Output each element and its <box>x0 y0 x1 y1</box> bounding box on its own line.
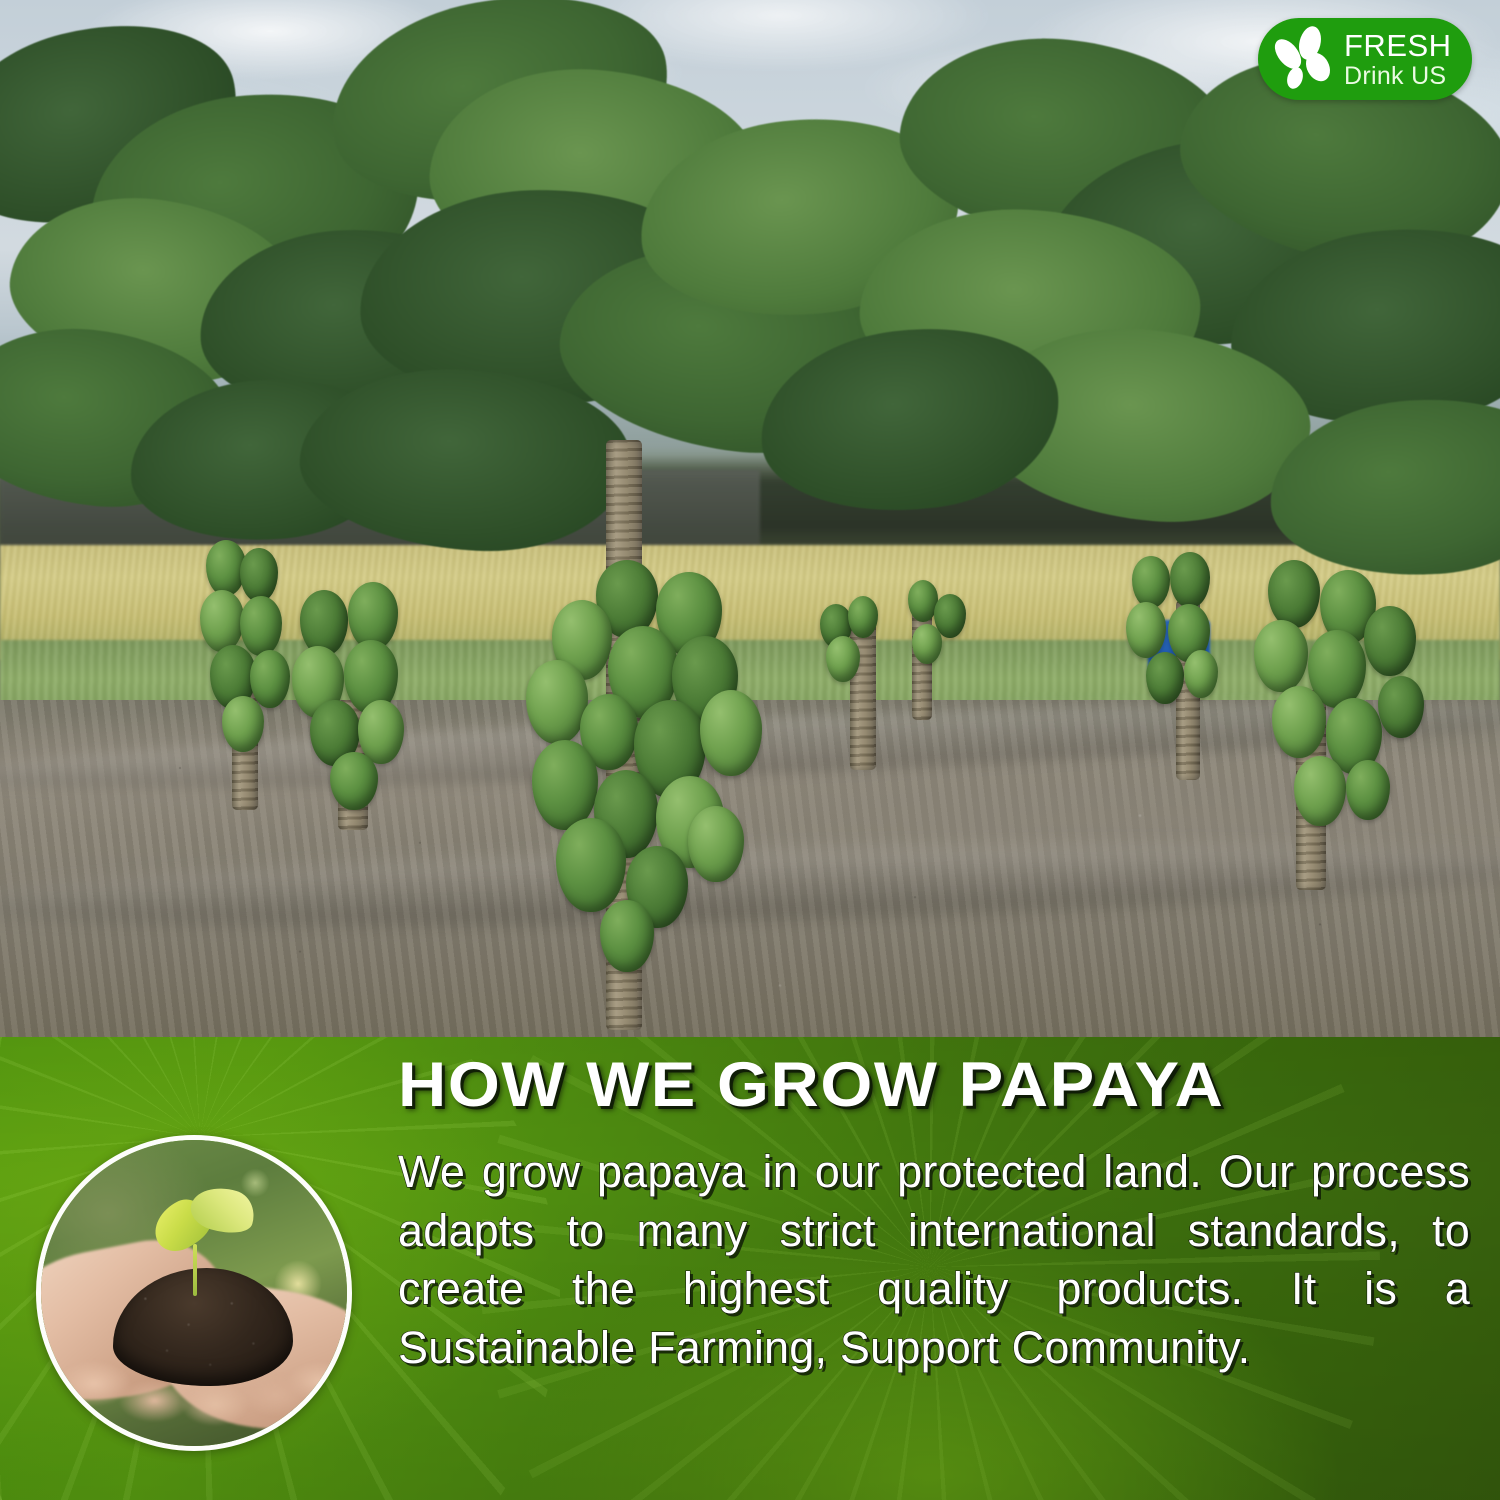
leaf-cluster-icon <box>1268 23 1342 95</box>
brand-name-secondary: Drink US <box>1344 64 1452 89</box>
marketing-infographic: HOW WE GROW PAPAYA We grow papaya in our… <box>0 0 1500 1500</box>
seedling-photo-background <box>41 1140 347 1446</box>
body-paragraph: We grow papaya in our protected land. Ou… <box>398 1143 1470 1377</box>
hands-holding-seedling-photo <box>36 1135 352 1451</box>
seedling-stem <box>193 1244 197 1296</box>
brand-name-primary: FRESH <box>1344 30 1452 61</box>
papaya-orchard-photo <box>0 0 1500 1037</box>
page-title: HOW WE GROW PAPAYA <box>398 1053 1500 1117</box>
logo-wordmark: FRESH Drink US <box>1344 30 1452 89</box>
brand-logo-badge[interactable]: FRESH Drink US <box>1258 18 1472 100</box>
